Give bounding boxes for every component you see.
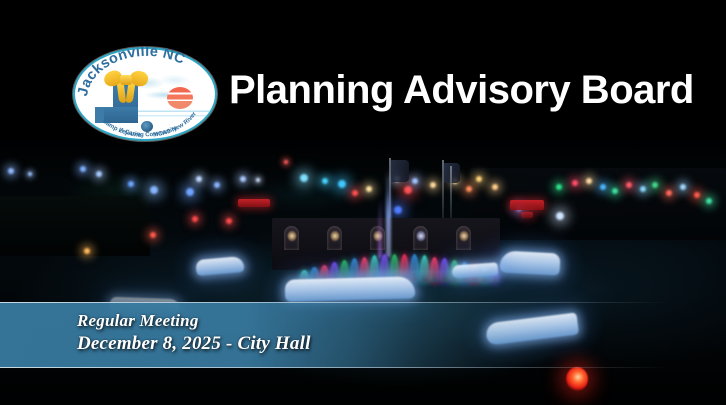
- arch-lamp-1: [284, 226, 299, 250]
- point-light: [80, 166, 86, 172]
- point-light: [556, 212, 564, 220]
- point-light: [626, 182, 632, 188]
- point-light: [226, 218, 232, 224]
- point-light: [466, 186, 472, 192]
- point-light: [640, 186, 646, 192]
- point-light: [492, 184, 498, 190]
- point-light: [8, 168, 14, 174]
- point-light: [430, 182, 436, 188]
- point-light: [338, 180, 346, 188]
- light-sculpture-3: [499, 250, 560, 275]
- broadcast-title-card: Jacksonville NC Camp Lejeune MCAS New Ri…: [0, 0, 726, 405]
- storefront-sign-right: [510, 200, 544, 210]
- point-light: [240, 176, 246, 182]
- point-light: [652, 182, 658, 188]
- point-light: [556, 184, 562, 190]
- point-light: [84, 248, 90, 254]
- point-light: [412, 178, 418, 184]
- point-light: [214, 182, 220, 188]
- point-light: [322, 178, 328, 184]
- caption-band-top-rule: [0, 302, 726, 303]
- arch-lamp-4: [413, 226, 428, 250]
- building-silhouette-left: [0, 196, 150, 256]
- point-light: [612, 188, 618, 194]
- point-light: [600, 184, 606, 190]
- arch-lamp-5: [456, 226, 471, 250]
- red-lamp-glow: [566, 367, 588, 391]
- fountain-center-jet: [386, 175, 391, 257]
- page-title: Planning Advisory Board: [229, 68, 694, 113]
- point-light: [680, 184, 686, 190]
- logo-arc-top-text: Jacksonville NC: [75, 47, 188, 98]
- point-light: [586, 178, 592, 184]
- caption-band: Regular Meeting December 8, 2025 - City …: [0, 302, 726, 368]
- meeting-type-label: Regular Meeting: [77, 310, 311, 332]
- flag-1: [391, 160, 409, 182]
- point-light: [694, 192, 700, 198]
- city-logo: Jacksonville NC Camp Lejeune MCAS New Ri…: [73, 47, 217, 141]
- point-light: [706, 198, 712, 204]
- point-light: [192, 216, 198, 222]
- point-light: [196, 176, 202, 182]
- point-light: [150, 232, 156, 238]
- point-light: [186, 188, 194, 196]
- flag-pole-3: [450, 166, 452, 218]
- point-light: [128, 181, 134, 187]
- storefront-sign-post: [521, 212, 533, 218]
- flag-2: [444, 163, 460, 183]
- storefront-sign-left: [238, 199, 270, 207]
- light-sculpture-2: [285, 276, 416, 301]
- point-light: [394, 206, 402, 214]
- point-light: [476, 176, 482, 182]
- svg-text:Jacksonville NC: Jacksonville NC: [75, 47, 188, 98]
- point-light: [28, 172, 32, 176]
- caption-text-block: Regular Meeting December 8, 2025 - City …: [77, 310, 311, 357]
- point-light: [366, 186, 372, 192]
- point-light: [300, 174, 308, 182]
- point-light: [284, 160, 288, 164]
- point-light: [666, 190, 672, 196]
- caption-band-bottom-rule: [0, 367, 726, 368]
- logo-text-arcs: Jacksonville NC Camp Lejeune MCAS New Ri…: [73, 47, 217, 141]
- point-light: [256, 178, 260, 182]
- point-light: [150, 186, 158, 194]
- building-silhouette-right: [470, 168, 726, 240]
- meeting-date-location-label: December 8, 2025 - City Hall: [77, 332, 311, 357]
- point-light: [404, 186, 412, 194]
- arch-lamp-2: [327, 226, 342, 250]
- point-light: [352, 190, 358, 196]
- point-light: [572, 180, 578, 186]
- point-light: [96, 171, 102, 177]
